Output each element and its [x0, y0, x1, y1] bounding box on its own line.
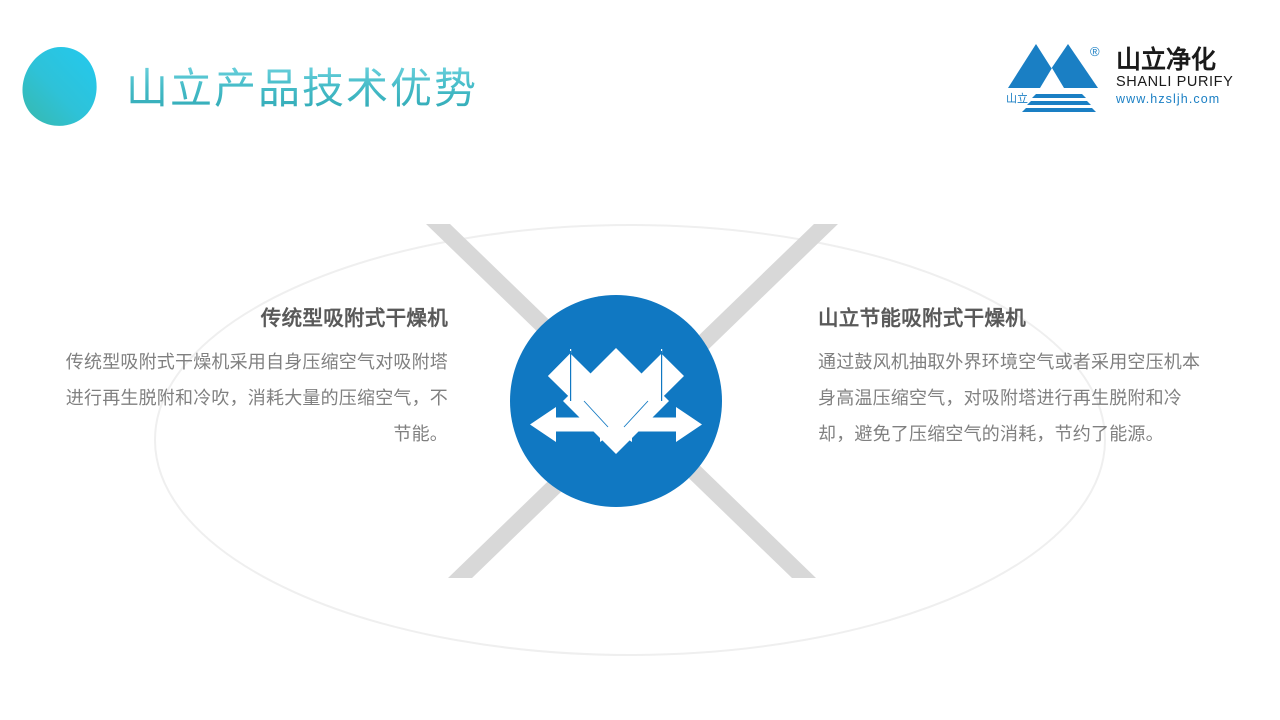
logo-company-name-en: SHANLI PURIFY — [1116, 74, 1228, 91]
brand-logo: ® 山立 山立净化 SHANLI PURIFY www.hzsljh.com — [1006, 38, 1226, 118]
comparison-block-traditional: 传统型吸附式干燥机 传统型吸附式干燥机采用自身压缩空气对吸附塔进行再生脱附和冷吹… — [48, 303, 448, 453]
block-body-shanli: 通过鼓风机抽取外界环境空气或者采用空压机本身高温压缩空气，对吸附塔进行再生脱附和… — [818, 345, 1218, 453]
logo-mark-caption: 山立 — [1006, 90, 1028, 106]
center-graphic — [380, 200, 860, 600]
block-heading-shanli: 山立节能吸附式干燥机 — [818, 303, 1218, 333]
comparison-block-shanli: 山立节能吸附式干燥机 通过鼓风机抽取外界环境空气或者采用空压机本身高温压缩空气，… — [818, 303, 1218, 453]
logo-company-name-cn: 山立净化 — [1116, 46, 1228, 74]
block-body-traditional: 传统型吸附式干燥机采用自身压缩空气对吸附塔进行再生脱附和冷吹，消耗大量的压缩空气… — [48, 345, 448, 453]
logo-website-url: www.hzsljh.com — [1116, 91, 1228, 107]
logo-wordmark: 山立净化 SHANLI PURIFY www.hzsljh.com — [1116, 46, 1228, 107]
slide-canvas: 山立产品技术优势 ® 山立 山立净化 SHANLI PURIFY www.hzs… — [0, 0, 1280, 720]
exchange-diamonds-arrows-icon — [510, 295, 722, 507]
block-heading-traditional: 传统型吸附式干燥机 — [48, 303, 448, 333]
registered-trademark-icon: ® — [1090, 44, 1100, 59]
page-title: 山立产品技术优势 — [126, 63, 478, 115]
center-hub-circle — [510, 295, 722, 507]
header-blob-decoration — [21, 46, 99, 126]
